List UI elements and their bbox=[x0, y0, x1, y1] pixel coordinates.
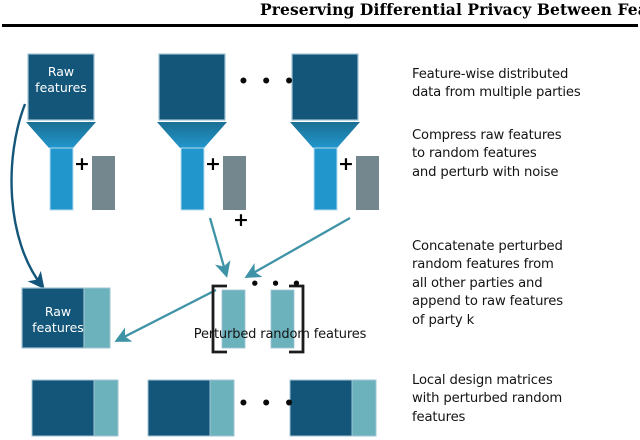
caption-concatenate-perturbed: Concatenate perturbed random features fr… bbox=[412, 238, 563, 330]
plus-sign-concat: + bbox=[233, 211, 249, 230]
funnel-2 bbox=[157, 122, 227, 148]
arrow-party2-to-bracket bbox=[210, 218, 226, 274]
caption-compress-raw-features: Compress raw features to random features… bbox=[412, 127, 562, 182]
raw-features-box-2 bbox=[159, 54, 225, 120]
plus-sign-2: + bbox=[205, 155, 221, 174]
raw-features-label-top: Raw features bbox=[28, 64, 94, 95]
plus-sign-3: + bbox=[338, 155, 354, 174]
caption-feature-wise-data: Feature-wise distributed data from multi… bbox=[412, 66, 581, 103]
party-block-3 bbox=[290, 54, 379, 210]
page-title: Preserving Differential Privacy Between … bbox=[0, 0, 640, 19]
random-features-bar-2 bbox=[181, 148, 204, 210]
raw-part-3 bbox=[290, 380, 352, 436]
funnel-1 bbox=[26, 122, 96, 148]
perturbed-part-2 bbox=[210, 380, 234, 436]
figure-page: Preserving Differential Privacy Between … bbox=[0, 0, 640, 440]
raw-features-box-3 bbox=[292, 54, 358, 120]
ellipsis-top-row: • • • bbox=[238, 74, 297, 91]
raw-part-1 bbox=[32, 380, 94, 436]
ellipsis-bottom-row: • • • bbox=[238, 396, 297, 413]
perturbed-random-features-matrix bbox=[213, 286, 303, 352]
arrow-partyk-to-bracket bbox=[248, 218, 350, 276]
header-divider bbox=[2, 24, 638, 27]
random-features-bar-1 bbox=[50, 148, 73, 210]
local-design-matrix-1 bbox=[32, 380, 118, 436]
noise-bar-1 bbox=[92, 156, 115, 210]
funnel-3 bbox=[290, 122, 360, 148]
perturbed-random-features-caption: Perturbed random features bbox=[170, 327, 390, 342]
plus-sign-1: + bbox=[74, 155, 90, 174]
perturbed-part-3 bbox=[352, 380, 376, 436]
caption-local-design-matrices: Local design matrices with perturbed ran… bbox=[412, 372, 562, 427]
local-design-matrix-2 bbox=[148, 380, 234, 436]
party-block-2 bbox=[157, 54, 246, 210]
noise-bar-2 bbox=[223, 156, 246, 210]
raw-part-2 bbox=[148, 380, 210, 436]
noise-bar-3 bbox=[356, 156, 379, 210]
raw-features-label-mid: Raw features bbox=[22, 304, 94, 335]
ellipsis-bracket: • • • bbox=[250, 277, 304, 292]
local-design-matrix-3 bbox=[290, 380, 376, 436]
random-features-bar-3 bbox=[314, 148, 337, 210]
perturbed-part-1 bbox=[94, 380, 118, 436]
